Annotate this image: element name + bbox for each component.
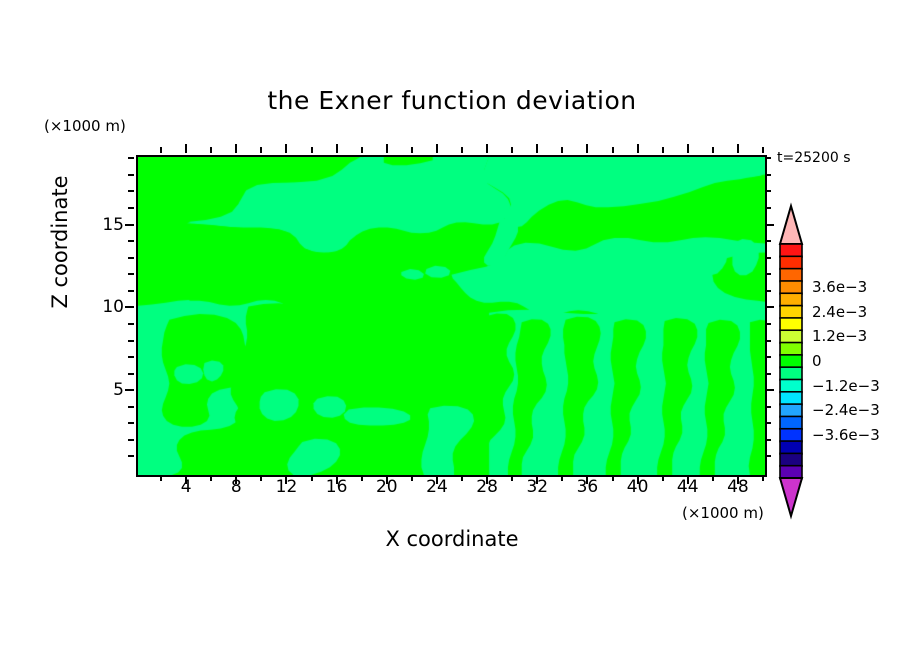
x-axis-tick-label: 44 [677,477,699,497]
contour-field-canvas [138,157,765,475]
y-axis-major-tick [125,389,134,391]
x-axis-major-tick [737,144,739,153]
x-axis-minor-tick [361,147,363,153]
x-axis-minor-tick [210,475,212,481]
colorbar-over-range-arrow [780,206,802,244]
x-axis-tick-label: 40 [627,477,649,497]
colorbar-band [780,429,802,442]
colorbar-band [780,343,802,356]
x-axis-tick-label: 32 [526,477,548,497]
x-axis-minor-tick [511,475,513,481]
x-axis-major-tick [436,144,438,153]
x-axis-minor-tick [712,475,714,481]
x-axis-minor-tick [260,147,262,153]
x-axis-unit-label: (×1000 m) [682,504,764,522]
x-axis-major-tick [687,144,689,153]
colorbar-band [780,318,802,331]
colorbar-tick-label: 3.6e−3 [812,278,867,296]
x-axis-major-tick [586,144,588,153]
x-axis-title: X coordinate [0,527,904,551]
x-axis-major-tick [637,144,639,153]
x-axis-major-tick [386,144,388,153]
colorbar-tick-label: −1.2e−3 [812,377,880,395]
colorbar-tick-label: −3.6e−3 [812,426,880,444]
y-axis-minor-tick [128,273,134,275]
y-axis-major-tick [125,224,134,226]
colorbar-swatches [770,200,810,520]
colorbar-band [780,355,802,368]
y-axis-minor-tick [128,207,134,209]
y-axis-minor-tick [128,157,134,159]
x-axis-tick-label: 4 [181,477,192,497]
y-axis-minor-tick [128,356,134,358]
y-axis-minor-tick [128,439,134,441]
x-axis-major-tick [536,144,538,153]
y-axis-minor-tick [128,257,134,259]
y-axis-tick-label: 15 [88,215,124,235]
y-axis-minor-tick [765,190,771,192]
colorbar-band [780,269,802,282]
y-axis-minor-tick [128,174,134,176]
x-axis-tick-label: 28 [476,477,498,497]
x-axis-minor-tick [210,147,212,153]
colorbar-band [780,330,802,343]
y-axis-major-tick [125,306,134,308]
x-axis-minor-tick [160,147,162,153]
plot-area [136,155,767,477]
y-axis-tick-label: 10 [88,297,124,317]
y-axis-minor-tick [765,157,771,159]
colorbar-band [780,416,802,429]
x-axis-minor-tick [461,475,463,481]
x-axis-minor-tick [662,475,664,481]
colorbar-band [780,466,802,479]
y-axis-minor-tick [128,406,134,408]
colorbar-tick-label: 1.2e−3 [812,327,867,345]
x-axis-minor-tick [361,475,363,481]
colorbar-band [780,306,802,319]
x-axis-minor-tick [260,475,262,481]
x-axis-minor-tick [461,147,463,153]
x-axis-minor-tick [160,475,162,481]
colorbar-band [780,367,802,380]
y-axis-minor-tick [128,290,134,292]
x-axis-minor-tick [612,475,614,481]
x-axis-tick-label: 36 [577,477,599,497]
x-axis-major-tick [235,144,237,153]
colorbar-band [780,441,802,454]
x-axis-major-tick [185,144,187,153]
y-axis-minor-tick [128,340,134,342]
y-axis-minor-tick [765,174,771,176]
colorbar-band [780,392,802,405]
colorbar-band [780,453,802,466]
colorbar-band [780,244,802,257]
x-axis-minor-tick [311,475,313,481]
y-axis-minor-tick [128,455,134,457]
x-axis-tick-label: 48 [727,477,749,497]
x-axis-minor-tick [712,147,714,153]
y-axis-minor-tick [128,240,134,242]
x-axis-minor-tick [612,147,614,153]
y-axis-minor-tick [128,373,134,375]
colorbar-band [780,281,802,294]
x-axis-minor-tick [311,147,313,153]
colorbar[interactable]: 3.6e−32.4e−31.2e−30−1.2e−3−2.4e−3−3.6e−3 [770,200,904,520]
y-axis-minor-tick [128,190,134,192]
colorbar-band [780,379,802,392]
x-axis-minor-tick [762,475,764,481]
x-axis-tick-label: 12 [276,477,298,497]
x-axis-tick-label: 16 [326,477,348,497]
x-axis-minor-tick [411,475,413,481]
y-axis-title: Z coordinate [48,152,72,332]
colorbar-tick-label: −2.4e−3 [812,401,880,419]
x-axis-minor-tick [511,147,513,153]
y-axis-unit-label: (×1000 m) [44,117,126,135]
colorbar-band [780,404,802,417]
timestamp-annotation: t=25200 s [777,150,851,166]
x-axis-minor-tick [762,147,764,153]
colorbar-band [780,293,802,306]
y-axis-minor-tick [128,323,134,325]
x-axis-minor-tick [662,147,664,153]
colorbar-band [780,256,802,269]
page-title: the Exner function deviation [0,86,904,115]
x-axis-tick-label: 24 [426,477,448,497]
x-axis-minor-tick [411,147,413,153]
colorbar-under-range-arrow [780,478,802,516]
colorbar-tick-label: 0 [812,352,822,370]
x-axis-major-tick [285,144,287,153]
colorbar-tick-label: 2.4e−3 [812,303,867,321]
x-axis-tick-label: 8 [231,477,242,497]
x-axis-major-tick [336,144,338,153]
x-axis-tick-label: 20 [376,477,398,497]
y-axis-minor-tick [128,422,134,424]
y-axis-tick-label: 5 [88,380,124,400]
x-axis-minor-tick [561,475,563,481]
x-axis-minor-tick [561,147,563,153]
x-axis-major-tick [486,144,488,153]
